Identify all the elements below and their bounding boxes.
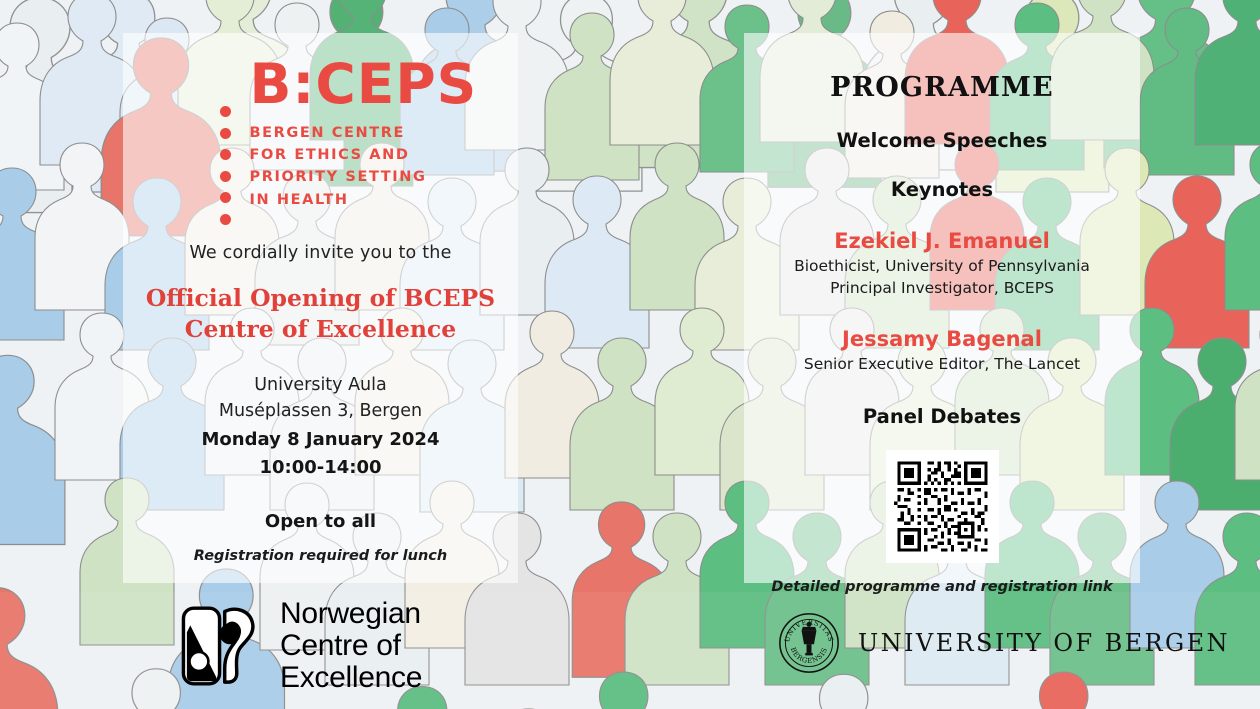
event-headline: Official Opening of BCEPS Centre of Exce…	[123, 283, 518, 346]
logo-dot-icon	[220, 192, 231, 203]
poster: B:CEPS BERGEN CENTRE FOR ETHICS AND PRIO…	[0, 0, 1260, 709]
venue-line: Muséplassen 3, Bergen	[123, 398, 518, 424]
registration-note: Registration required for lunch	[123, 548, 518, 564]
logo-tagline-line: IN HEALTH	[250, 189, 452, 211]
logo-tagline-line: FOR ETHICS AND	[250, 144, 452, 166]
nce-mark-icon	[180, 603, 266, 689]
event-time: 10:00-14:00	[123, 454, 518, 481]
speaker-role-jessamy-bagenal: Senior Executive Editor, The Lancet	[744, 353, 1140, 375]
event-headline-line: Official Opening of BCEPS	[123, 283, 518, 314]
norwegian-centre-of-excellence-logo: Norwegian Centre of Excellence	[180, 598, 422, 694]
qr-code[interactable]	[886, 450, 999, 563]
logo-dot-icon	[220, 171, 231, 182]
event-datetime: Monday 8 January 2024 10:00-14:00	[123, 426, 518, 481]
nce-wordmark-line: Excellence	[280, 662, 422, 694]
logo-tagline-line: BERGEN CENTRE	[250, 122, 452, 144]
logo-dot-icon	[220, 149, 231, 160]
invitation-line: We cordially invite you to the	[123, 243, 518, 263]
speaker-role-line: Bioethicist, University of Pennsylvania	[744, 255, 1140, 277]
speaker-name-ezekiel-emanuel: Ezekiel J. Emanuel	[744, 229, 1140, 253]
event-headline-line: Centre of Excellence	[123, 314, 518, 345]
programme-item-welcome-speeches: Welcome Speeches	[744, 129, 1140, 152]
programme-title: PROGRAMME	[744, 33, 1140, 103]
event-date: Monday 8 January 2024	[123, 426, 518, 453]
university-of-bergen-logo: UNIVERSITAS BERGENSIS UNIVERSITY OF BERG…	[778, 612, 1230, 674]
bceps-logo: B:CEPS BERGEN CENTRE FOR ETHICS AND PRIO…	[190, 33, 452, 211]
speaker-role-line: Principal Investigator, BCEPS	[744, 277, 1140, 299]
speaker-role-ezekiel-emanuel: Bioethicist, University of Pennsylvania …	[744, 255, 1140, 299]
nce-wordmark: Norwegian Centre of Excellence	[280, 598, 422, 694]
venue-line: University Aula	[123, 372, 518, 398]
qr-caption: Detailed programme and registration link	[744, 579, 1140, 595]
logo-dots-icon	[220, 106, 231, 225]
uib-wordmark: UNIVERSITY OF BERGEN	[858, 629, 1230, 657]
programme-item-keynotes: Keynotes	[744, 178, 1140, 201]
invitation-card: B:CEPS BERGEN CENTRE FOR ETHICS AND PRIO…	[123, 33, 518, 583]
nce-wordmark-line: Centre of	[280, 630, 422, 662]
nce-wordmark-line: Norwegian	[280, 598, 422, 630]
speaker-name-jessamy-bagenal: Jessamy Bagenal	[744, 327, 1140, 351]
logo-tagline-line: PRIORITY SETTING	[250, 166, 452, 188]
logo-tagline: BERGEN CENTRE FOR ETHICS AND PRIORITY SE…	[250, 122, 452, 211]
programme-item-panel-debates: Panel Debates	[744, 405, 1140, 428]
logo-wordmark: B:CEPS	[250, 57, 452, 112]
logo-dot-icon	[220, 128, 231, 139]
logo-dot-icon	[220, 214, 231, 225]
logo-dot-icon	[220, 106, 231, 117]
uib-seal-icon: UNIVERSITAS BERGENSIS	[778, 612, 840, 674]
speaker-role-line: Senior Executive Editor, The Lancet	[744, 353, 1140, 375]
open-to-all-note: Open to all	[123, 511, 518, 532]
event-venue: University Aula Muséplassen 3, Bergen	[123, 372, 518, 425]
programme-card: PROGRAMME Welcome Speeches Keynotes Ezek…	[744, 33, 1140, 583]
